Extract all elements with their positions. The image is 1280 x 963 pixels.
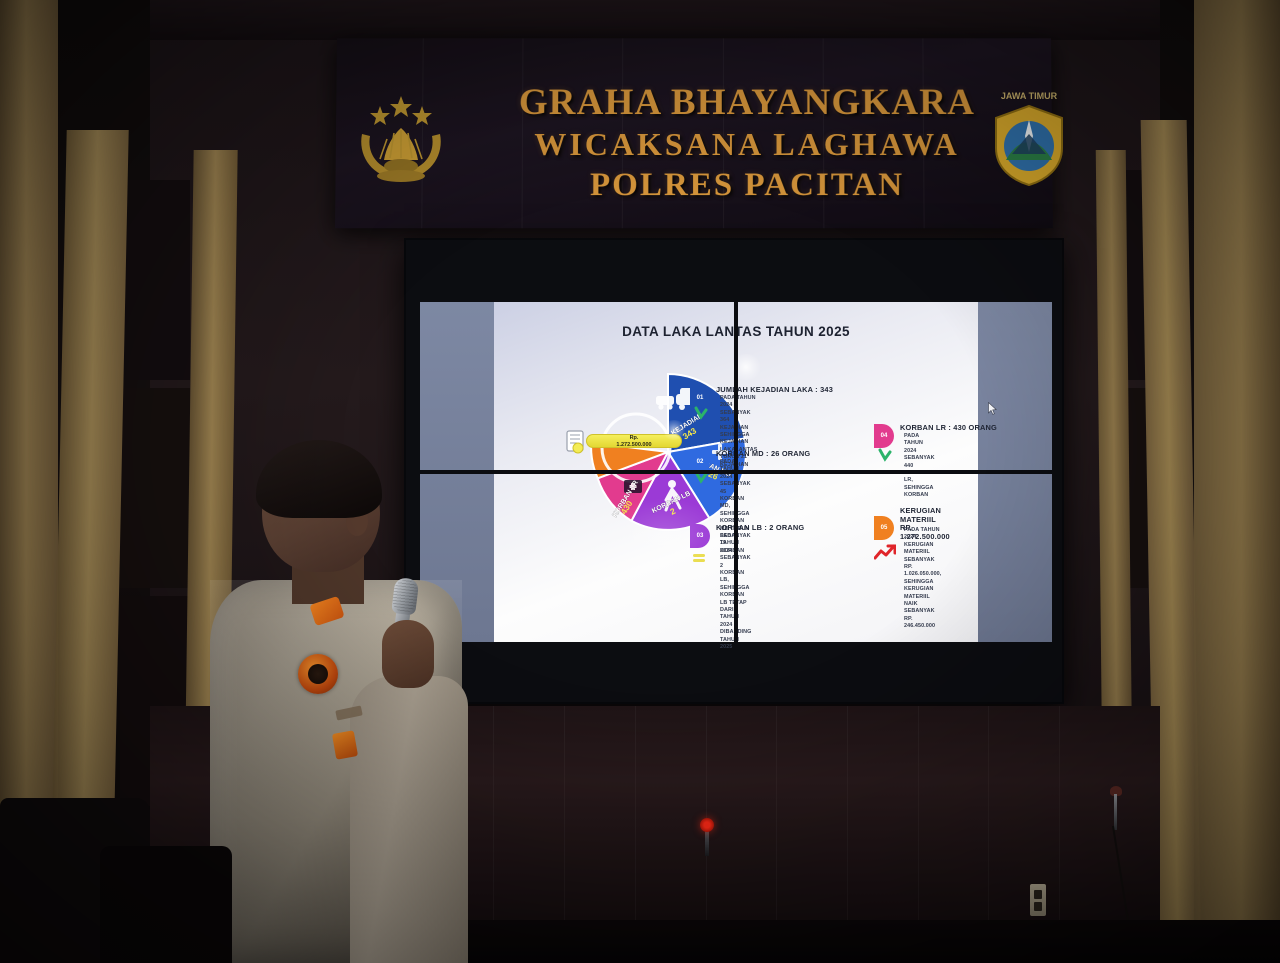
officer-shoulder-badge-center	[308, 664, 328, 684]
foreground-chair-2	[100, 846, 232, 963]
polri-emblem	[352, 92, 450, 192]
wall-outlet-socket-top[interactable]	[1034, 890, 1042, 899]
officer-hand	[382, 620, 434, 688]
police-officer-presenter	[200, 440, 480, 963]
wall-panel-left-top	[120, 180, 190, 380]
officer-arm	[350, 676, 468, 963]
mic-stand-pole	[1114, 794, 1117, 830]
officer-chest-patch	[332, 730, 358, 759]
venue-name-line1: GRAHA BHAYANGKARA	[456, 82, 1038, 124]
wall-panel-left-mid	[120, 388, 190, 588]
pilaster-right-1	[1194, 0, 1280, 963]
officer-hair	[256, 440, 382, 518]
conference-room-photo: GRAHA BHAYANGKARA WICAKSANA LAGHAWA POLR…	[0, 0, 1280, 963]
wall-outlet-socket-bottom[interactable]	[1034, 902, 1042, 911]
venue-name-line3: POLRES PACITAN	[455, 164, 1038, 206]
venue-name-line2: WICAKSANA LAGHAWA	[456, 124, 1039, 164]
red-indicator-light	[700, 818, 714, 832]
red-indicator-stem	[705, 830, 709, 856]
video-wall-panel-tr	[738, 302, 1053, 471]
video-wall-grid	[420, 302, 1052, 642]
video-wall-frame: DATA LAKA LANTAS TAHUN 2025	[404, 238, 1064, 704]
jawa-timur-emblem: JAWA TIMUR	[984, 86, 1074, 190]
wall-outlet-plate[interactable]	[1030, 884, 1046, 916]
jawa-timur-caption: JAWA TIMUR	[1001, 91, 1058, 101]
ceiling-soffit	[150, 0, 1160, 40]
video-wall-panel-br	[738, 474, 1053, 643]
